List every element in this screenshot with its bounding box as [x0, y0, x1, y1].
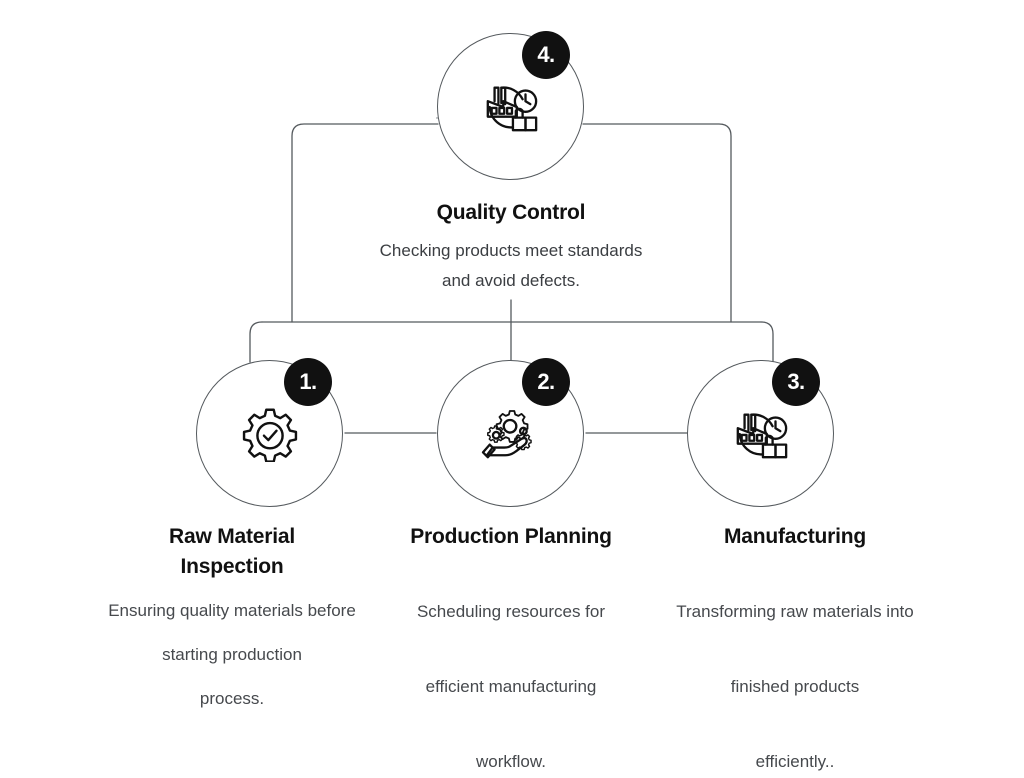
node-desc-2-line3: workflow.	[370, 747, 652, 777]
gear-check-icon	[242, 406, 298, 462]
node-badge-1: 1.	[284, 358, 332, 406]
node-desc-1-line1: Ensuring quality materials before	[72, 596, 392, 626]
node-title-4: Quality Control	[311, 198, 711, 228]
factory-clock-box-icon	[730, 405, 792, 463]
node-title-1-line1: Raw Material	[72, 522, 392, 552]
node-desc-1-line2: starting production	[72, 640, 392, 670]
caption-manufacturing: Manufacturing Transforming raw materials…	[635, 522, 955, 778]
caption-quality-control: Quality Control Checking products meet s…	[311, 198, 711, 296]
node-title-3-line1: Manufacturing	[635, 522, 955, 552]
caption-production-planning: Production Planning Scheduling resources…	[370, 522, 652, 778]
node-badge-4: 4.	[522, 31, 570, 79]
factory-clock-box-icon	[480, 78, 542, 136]
node-quality-control[interactable]: 4.	[437, 33, 627, 223]
node-badge-3-label: 3.	[787, 371, 804, 393]
connector-branch-3	[761, 322, 773, 362]
hand-gears-icon	[479, 405, 543, 463]
node-title-2-line1: Production Planning	[370, 522, 652, 552]
node-badge-2-label: 2.	[537, 371, 554, 393]
node-desc-4-line2: and avoid defects.	[311, 266, 711, 296]
node-desc-3-line1: Transforming raw materials into	[635, 597, 955, 627]
node-badge-3: 3.	[772, 358, 820, 406]
node-badge-4-label: 4.	[537, 44, 554, 66]
diagram-canvas: 4. Quality Control Checking products mee…	[0, 0, 1024, 683]
node-desc-4-line1: Checking products meet standards	[311, 236, 711, 266]
node-badge-2: 2.	[522, 358, 570, 406]
node-desc-3-line3: efficiently..	[635, 747, 955, 777]
node-desc-2-line2: efficient manufacturing	[370, 672, 652, 702]
node-badge-1-label: 1.	[299, 371, 316, 393]
connector-branch-1	[250, 322, 262, 362]
node-desc-1-line3: process.	[72, 684, 392, 714]
caption-raw-material-inspection: Raw Material Inspection Ensuring quality…	[72, 522, 392, 714]
node-desc-3-line2: finished products	[635, 672, 955, 702]
node-desc-2-line1: Scheduling resources for	[370, 597, 652, 627]
node-title-1-line2: Inspection	[72, 552, 392, 582]
